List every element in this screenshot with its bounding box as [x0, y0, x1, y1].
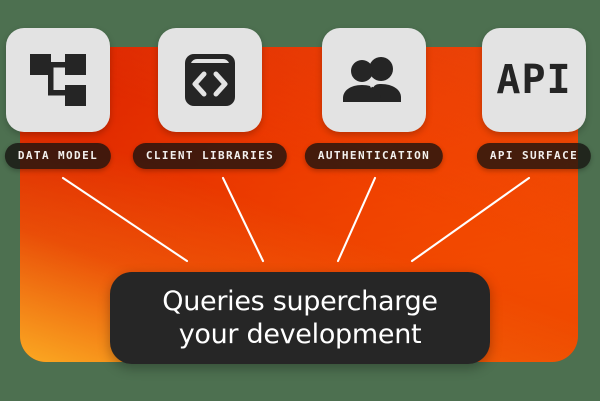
diagram-canvas: DATA MODEL CLIENT LIBRARIES AUTHENTICATI… — [0, 0, 600, 401]
callout-box: Queries supercharge your development — [110, 272, 490, 364]
node-authentication[interactable]: AUTHENTICATION — [322, 28, 426, 132]
node-api-surface[interactable]: API API SURFACE — [482, 28, 586, 132]
callout-line-1: Queries supercharge — [162, 285, 437, 318]
node-client-libraries-card[interactable] — [158, 28, 262, 132]
api-text-icon: API — [496, 57, 571, 103]
users-group-icon — [343, 57, 405, 103]
node-data-model-card[interactable] — [6, 28, 110, 132]
node-data-model[interactable]: DATA MODEL — [6, 28, 110, 132]
schema-nodes-icon — [30, 54, 86, 106]
node-client-libraries-label: CLIENT LIBRARIES — [133, 143, 287, 169]
node-data-model-label: DATA MODEL — [5, 143, 111, 169]
code-brackets-book-icon — [183, 53, 237, 107]
node-authentication-card[interactable] — [322, 28, 426, 132]
node-authentication-label: AUTHENTICATION — [305, 143, 443, 169]
node-client-libraries[interactable]: CLIENT LIBRARIES — [158, 28, 262, 132]
node-api-surface-card[interactable]: API — [482, 28, 586, 132]
node-api-surface-label: API SURFACE — [477, 143, 591, 169]
callout-line-2: your development — [179, 318, 422, 351]
